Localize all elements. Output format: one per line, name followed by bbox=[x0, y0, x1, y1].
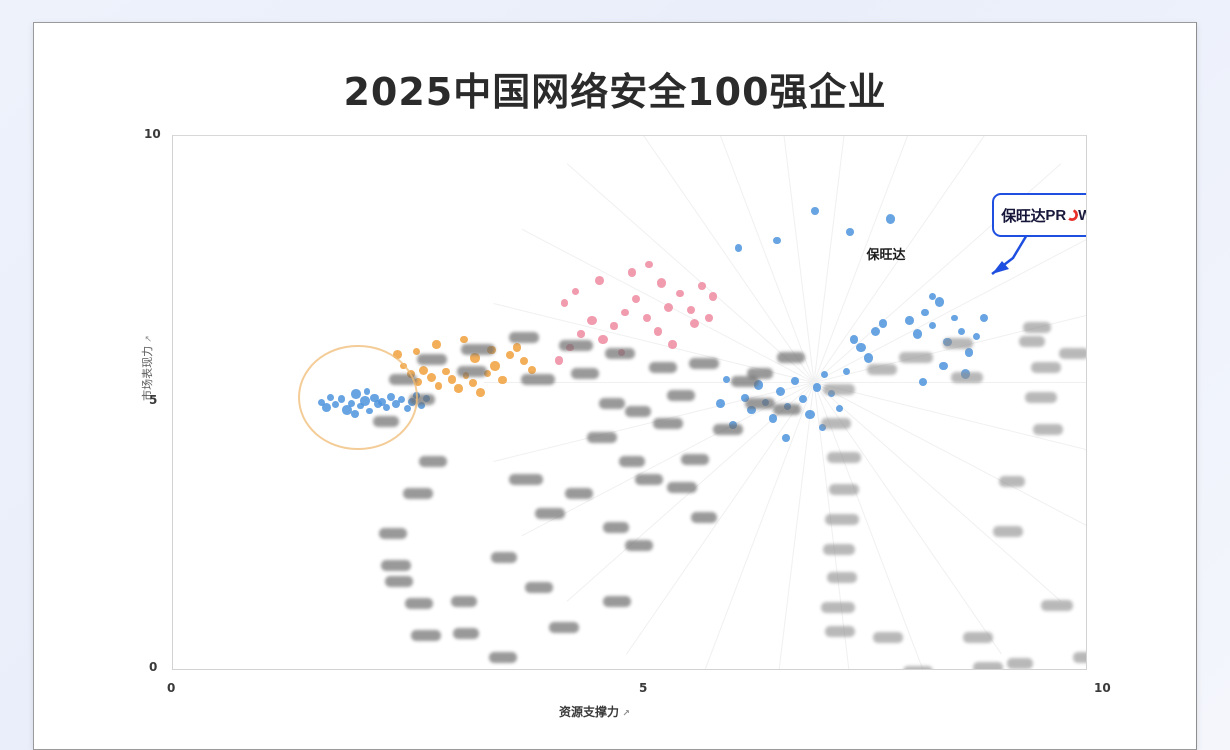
scatter-point bbox=[572, 288, 579, 295]
scatter-point bbox=[628, 268, 636, 276]
x-tick-5: 5 bbox=[639, 681, 647, 695]
y-tick-5: 5 bbox=[149, 393, 157, 407]
scatter-point bbox=[773, 237, 781, 245]
blurred-company-label bbox=[1041, 600, 1073, 611]
scatter-point bbox=[846, 228, 854, 236]
radial-ray bbox=[696, 135, 814, 383]
blurred-company-label bbox=[559, 340, 593, 351]
scatter-point bbox=[598, 335, 607, 344]
blurred-company-label bbox=[963, 632, 993, 643]
blurred-company-label bbox=[943, 338, 973, 349]
blurred-company-label bbox=[603, 522, 629, 533]
blurred-company-label bbox=[625, 540, 653, 551]
blurred-company-label bbox=[405, 598, 433, 609]
blurred-company-label bbox=[509, 332, 539, 343]
callout-brand-en-pre: PR bbox=[1045, 207, 1066, 224]
blurred-company-label bbox=[457, 366, 487, 377]
blurred-company-label bbox=[1059, 348, 1087, 359]
radial-ray bbox=[626, 135, 814, 383]
scatter-point bbox=[921, 309, 929, 317]
callout-brand-text: 保旺达PRWADA bbox=[1001, 205, 1087, 226]
scatter-point bbox=[856, 343, 865, 352]
scatter-point bbox=[939, 362, 948, 371]
blurred-company-label bbox=[999, 476, 1025, 487]
blurred-company-label bbox=[571, 368, 599, 379]
blurred-company-label bbox=[825, 514, 859, 525]
blurred-company-label bbox=[549, 622, 579, 633]
blurred-company-label bbox=[625, 406, 651, 417]
blurred-company-label bbox=[1007, 658, 1033, 669]
blurred-company-label bbox=[605, 348, 635, 359]
blurred-company-label bbox=[525, 582, 553, 593]
radial-ray bbox=[773, 135, 814, 383]
prowada-swirl-logo-icon bbox=[1066, 209, 1078, 221]
scatter-point bbox=[432, 340, 440, 348]
scatter-point bbox=[965, 348, 974, 357]
highlight-ellipse bbox=[298, 345, 417, 451]
scatter-point bbox=[577, 330, 584, 337]
scatter-point bbox=[879, 319, 888, 328]
page-title: 2025中国网络安全100强企业 bbox=[34, 61, 1196, 116]
blurred-company-label bbox=[829, 484, 859, 495]
callout-brand-en-post: WADA bbox=[1078, 207, 1087, 224]
blurred-company-label bbox=[619, 456, 645, 467]
blurred-company-label bbox=[653, 418, 683, 429]
x-axis-label-text: 资源支撑力 bbox=[559, 705, 619, 719]
scatter-point bbox=[951, 315, 958, 322]
x-axis-arrow-icon: ↗ bbox=[622, 708, 630, 718]
scatter-point bbox=[442, 368, 450, 376]
x-tick-0: 0 bbox=[167, 681, 175, 695]
scatter-point bbox=[716, 399, 725, 408]
scatter-point bbox=[632, 295, 640, 303]
blurred-company-label bbox=[603, 596, 631, 607]
blurred-company-label bbox=[1073, 652, 1087, 663]
scatter-point bbox=[427, 373, 436, 382]
radial-ray bbox=[813, 229, 1087, 383]
x-axis-label: 资源支撑力 ↗ bbox=[559, 703, 630, 720]
y-axis-arrow-icon: ↗ bbox=[143, 335, 153, 343]
scatter-point bbox=[498, 376, 507, 385]
scatter-point bbox=[913, 329, 922, 338]
plot-area: 保旺达 保旺达PRWADA CYBERSECURITY bbox=[172, 135, 1087, 670]
blurred-company-label bbox=[951, 372, 983, 383]
scatter-point bbox=[657, 278, 666, 287]
blurred-company-label bbox=[565, 488, 593, 499]
blurred-company-label bbox=[385, 576, 413, 587]
scatter-point bbox=[821, 371, 828, 378]
blurred-company-label bbox=[867, 364, 897, 375]
scatter-point bbox=[735, 244, 743, 252]
radial-ray bbox=[773, 383, 814, 670]
blurred-company-label bbox=[649, 362, 677, 373]
scatter-point bbox=[791, 377, 799, 385]
scatter-point bbox=[413, 348, 420, 355]
scatter-point bbox=[864, 353, 873, 362]
blurred-company-label bbox=[453, 628, 479, 639]
scatter-point bbox=[690, 319, 699, 328]
blurred-company-label bbox=[417, 354, 447, 365]
radial-ray bbox=[566, 163, 814, 383]
blurred-company-label bbox=[873, 632, 903, 643]
scatter-point bbox=[709, 292, 717, 300]
scatter-point bbox=[871, 327, 880, 336]
blurred-company-label bbox=[899, 352, 933, 363]
blurred-company-label bbox=[451, 596, 477, 607]
scatter-point bbox=[905, 316, 914, 325]
scatter-point bbox=[520, 357, 528, 365]
scatter-point bbox=[448, 375, 456, 383]
scatter-point bbox=[935, 297, 944, 306]
scatter-point bbox=[886, 214, 895, 223]
blurred-company-label bbox=[903, 666, 933, 670]
blurred-company-label bbox=[993, 526, 1023, 537]
scatter-point bbox=[513, 343, 522, 352]
callout-brand-cn: 保旺达 bbox=[1001, 205, 1045, 226]
scatter-point bbox=[980, 314, 988, 322]
blurred-company-label bbox=[521, 374, 555, 385]
scatter-point bbox=[676, 290, 683, 297]
highlighted-point-label: 保旺达 bbox=[867, 244, 906, 263]
scatter-point bbox=[643, 314, 651, 322]
scatter-point bbox=[490, 361, 499, 370]
blurred-company-label bbox=[411, 630, 441, 641]
blurred-company-label bbox=[821, 418, 851, 429]
scatter-point bbox=[555, 356, 564, 365]
prowada-callout[interactable]: 保旺达PRWADA bbox=[992, 193, 1087, 237]
scatter-point bbox=[782, 434, 790, 442]
blurred-company-label bbox=[777, 352, 805, 363]
blurred-company-label bbox=[973, 662, 1003, 670]
scatter-point bbox=[610, 322, 617, 329]
blurred-company-label bbox=[827, 572, 857, 583]
blurred-company-label bbox=[667, 390, 695, 401]
scatter-point bbox=[476, 388, 485, 397]
scatter-point bbox=[587, 316, 596, 325]
scatter-point bbox=[811, 207, 819, 215]
blurred-company-label bbox=[491, 552, 517, 563]
scatter-point bbox=[654, 327, 662, 335]
blurred-company-label bbox=[773, 404, 801, 415]
scatter-point bbox=[419, 366, 428, 375]
scatter-chart: 市场表现力 ↗ 10 5 0 保旺达 保旺达PRWADA bbox=[139, 135, 1089, 670]
blurred-company-label bbox=[635, 474, 663, 485]
blurred-company-label bbox=[461, 344, 495, 355]
scatter-point bbox=[799, 395, 807, 403]
scatter-point bbox=[769, 414, 777, 422]
blurred-company-label bbox=[691, 512, 717, 523]
scatter-point bbox=[850, 335, 858, 343]
y-tick-10: 10 bbox=[144, 127, 161, 141]
scatter-point bbox=[561, 299, 569, 307]
scatter-point bbox=[958, 328, 965, 335]
radial-ray bbox=[813, 135, 854, 383]
scatter-point bbox=[929, 322, 936, 329]
blurred-company-label bbox=[823, 544, 855, 555]
blurred-company-label bbox=[689, 358, 719, 369]
scatter-point bbox=[645, 261, 653, 269]
scatter-point bbox=[919, 378, 927, 386]
slide-card: 2025中国网络安全100强企业 市场表现力 ↗ 10 5 0 保旺达 bbox=[33, 22, 1197, 750]
blurred-company-label bbox=[713, 424, 743, 435]
scatter-point bbox=[776, 387, 785, 396]
blurred-company-label bbox=[379, 528, 407, 539]
blurred-company-label bbox=[381, 560, 411, 571]
scatter-point bbox=[836, 405, 843, 412]
blurred-company-label bbox=[1023, 322, 1051, 333]
radial-ray bbox=[814, 382, 1088, 383]
blurred-company-label bbox=[489, 652, 517, 663]
blurred-company-label bbox=[509, 474, 543, 485]
blurred-company-label bbox=[747, 368, 773, 379]
blurred-company-label bbox=[667, 482, 697, 493]
blurred-company-label bbox=[1019, 336, 1045, 347]
scatter-point bbox=[469, 379, 477, 387]
blurred-company-label bbox=[821, 602, 855, 613]
scatter-point bbox=[595, 276, 604, 285]
x-tick-10: 10 bbox=[1094, 681, 1111, 695]
scatter-point bbox=[454, 384, 462, 392]
scatter-point bbox=[506, 351, 514, 359]
radial-ray bbox=[813, 135, 1001, 383]
scatter-point bbox=[621, 309, 628, 316]
blurred-company-label bbox=[419, 456, 447, 467]
blurred-company-label bbox=[825, 626, 855, 637]
blurred-company-label bbox=[587, 432, 617, 443]
scatter-point bbox=[664, 303, 673, 312]
scatter-point bbox=[687, 306, 695, 314]
blurred-company-label bbox=[745, 398, 775, 409]
blurred-company-label bbox=[535, 508, 565, 519]
scatter-point bbox=[460, 336, 467, 343]
scatter-point bbox=[435, 382, 442, 389]
scatter-point bbox=[698, 282, 706, 290]
scatter-point bbox=[705, 314, 712, 321]
blurred-company-label bbox=[681, 454, 709, 465]
y-axis-label: 市场表现力 ↗ bbox=[139, 308, 155, 428]
blurred-company-label bbox=[1025, 392, 1057, 403]
blurred-company-label bbox=[599, 398, 625, 409]
scatter-point bbox=[973, 333, 980, 340]
blurred-company-label bbox=[823, 384, 855, 395]
scatter-point bbox=[805, 410, 814, 419]
y-tick-0: 0 bbox=[149, 660, 157, 674]
blurred-company-label bbox=[1033, 424, 1063, 435]
blurred-company-label bbox=[827, 452, 861, 463]
blurred-company-label bbox=[403, 488, 433, 499]
blurred-company-label bbox=[1031, 362, 1061, 373]
scatter-point bbox=[668, 340, 676, 348]
